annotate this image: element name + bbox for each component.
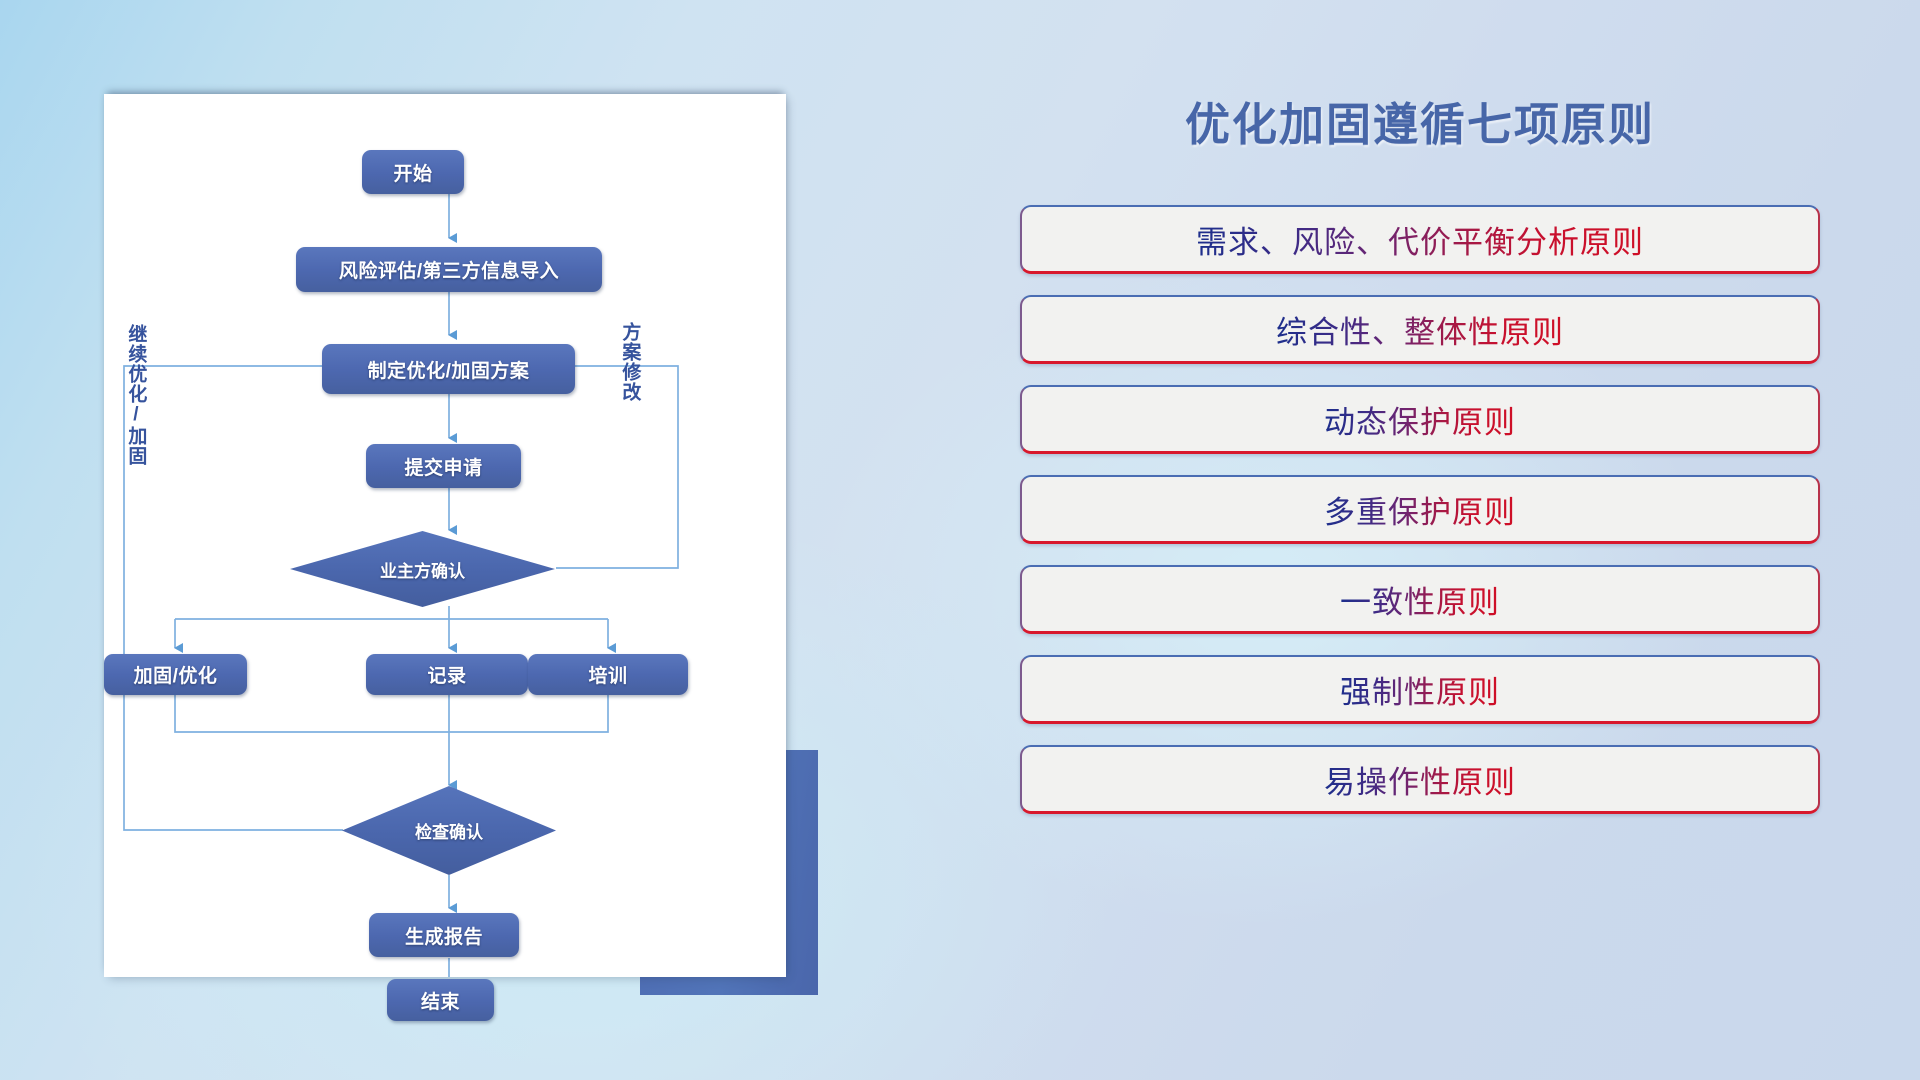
flow-node-risk-assessment-label: 风险评估/第三方信息导入 [339, 256, 559, 283]
flow-node-generate-report[interactable]: 生成报告 [369, 913, 519, 957]
page-title: 优化加固遵循七项原则 [1020, 88, 1820, 153]
list-item[interactable]: 动态保护原则 [1020, 385, 1820, 454]
principle-label: 易操作性原则 [1324, 757, 1516, 802]
flow-decision-inspection-confirm[interactable]: 检查确认 [342, 786, 556, 875]
flow-node-submit-application[interactable]: 提交申请 [366, 444, 521, 488]
principle-label: 需求、风险、代价平衡分析原则 [1196, 217, 1644, 262]
flow-node-record[interactable]: 记录 [366, 654, 528, 695]
flow-node-generate-report-label: 生成报告 [405, 922, 483, 949]
list-item[interactable]: 强制性原则 [1020, 655, 1820, 724]
flow-node-plan-label: 制定优化/加固方案 [368, 356, 530, 383]
list-item[interactable]: 需求、风险、代价平衡分析原则 [1020, 205, 1820, 274]
flow-node-plan[interactable]: 制定优化/加固方案 [322, 344, 575, 394]
flow-node-end[interactable]: 结束 [387, 979, 494, 1021]
flow-node-reinforce-optimize[interactable]: 加固/优化 [104, 654, 247, 695]
flow-node-training-label: 培训 [588, 661, 627, 688]
flow-decision-inspection-confirm-label: 检查确认 [415, 818, 483, 843]
flow-decision-owner-confirm[interactable]: 业主方确认 [290, 531, 555, 607]
principle-label: 强制性原则 [1340, 667, 1500, 712]
flow-node-start-label: 开始 [393, 159, 432, 186]
flow-decision-owner-confirm-label: 业主方确认 [380, 557, 465, 582]
list-item[interactable]: 综合性、整体性原则 [1020, 295, 1820, 364]
flow-node-record-label: 记录 [427, 661, 466, 688]
list-item[interactable]: 多重保护原则 [1020, 475, 1820, 544]
principle-label: 动态保护原则 [1324, 397, 1516, 442]
list-item[interactable]: 一致性原则 [1020, 565, 1820, 634]
flow-edge-label-continue-optimize: 继续优化/加固 [126, 324, 145, 466]
flowchart-card: 开始 风险评估/第三方信息导入 制定优化/加固方案 提交申请 业主方确认 加固/… [104, 94, 786, 977]
list-item[interactable]: 易操作性原则 [1020, 745, 1820, 814]
flow-node-training[interactable]: 培训 [528, 654, 688, 695]
principles-list: 需求、风险、代价平衡分析原则 综合性、整体性原则 动态保护原则 多重保护原则 一… [1020, 205, 1820, 814]
principles-panel: 优化加固遵循七项原则 需求、风险、代价平衡分析原则 综合性、整体性原则 动态保护… [1020, 88, 1820, 1008]
flow-edge-label-plan-revision: 方案修改 [620, 322, 639, 402]
principle-label: 多重保护原则 [1324, 487, 1516, 532]
flow-node-end-label: 结束 [421, 987, 460, 1014]
flow-node-reinforce-optimize-label: 加固/优化 [134, 661, 218, 688]
flow-node-submit-application-label: 提交申请 [404, 453, 482, 480]
flow-node-start[interactable]: 开始 [362, 150, 464, 194]
principle-label: 一致性原则 [1340, 577, 1500, 622]
slide-canvas: 开始 风险评估/第三方信息导入 制定优化/加固方案 提交申请 业主方确认 加固/… [0, 0, 1920, 1080]
flow-node-risk-assessment[interactable]: 风险评估/第三方信息导入 [296, 247, 602, 292]
principle-label: 综合性、整体性原则 [1276, 307, 1564, 352]
